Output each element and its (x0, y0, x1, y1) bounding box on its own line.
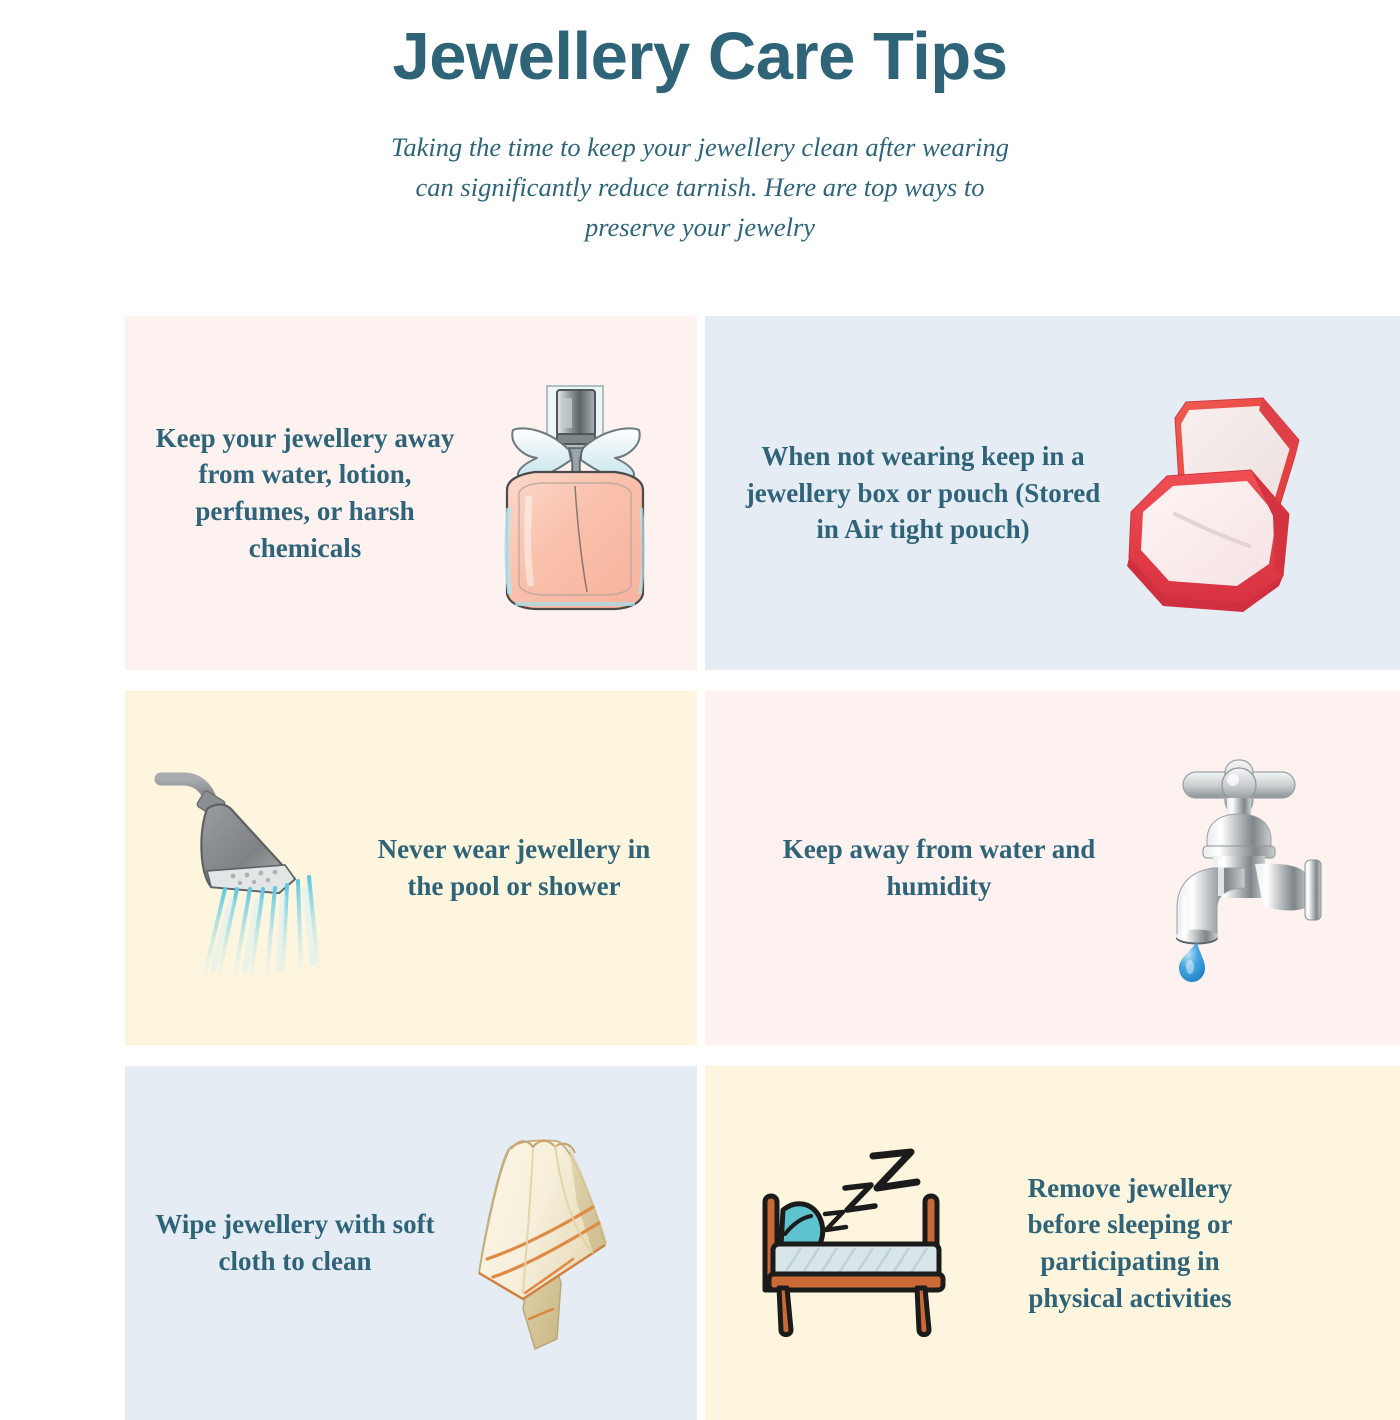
tip-card-avoid-humidity: Keep away from water and humidity (705, 691, 1400, 1045)
perfume-bottle-icon (485, 368, 665, 618)
cloth-icon (465, 1133, 640, 1353)
tips-row-1: Keep your jewellery away from water, lot… (125, 316, 1400, 670)
header: Jewellery Care Tips Taking the time to k… (0, 0, 1400, 248)
infographic-page: Jewellery Care Tips Taking the time to k… (0, 0, 1400, 1400)
tip-card-text: Never wear jewellery in the pool or show… (354, 831, 674, 904)
faucet-icon (1159, 756, 1349, 981)
tip-card-no-pool-or-shower: Never wear jewellery in the pool or show… (125, 691, 697, 1045)
tips-row-2: Never wear jewellery in the pool or show… (125, 691, 1400, 1045)
ring-box-icon (1123, 386, 1323, 601)
tip-card-remove-before-sleep: Remove jewellery before sleeping or part… (705, 1066, 1400, 1420)
tip-card-text: Keep away from water and humidity (739, 831, 1139, 904)
tip-card-wipe-with-cloth: Wipe jewellery with soft cloth to clean (125, 1066, 697, 1420)
tip-card-store-in-box: When not wearing keep in a jewellery box… (705, 316, 1400, 670)
tip-card-avoid-chemicals: Keep your jewellery away from water, lot… (125, 316, 697, 670)
tips-row-3: Wipe jewellery with soft cloth to clean (125, 1066, 1400, 1420)
tip-card-text: Wipe jewellery with soft cloth to clean (125, 1206, 465, 1279)
shower-head-icon (155, 761, 350, 976)
tip-card-text: Keep your jewellery away from water, lot… (125, 420, 485, 567)
tip-card-text: Remove jewellery before sleeping or part… (980, 1170, 1280, 1317)
tips-grid: Keep your jewellery away from water, lot… (125, 316, 1400, 1420)
page-subtitle: Taking the time to keep your jewellery c… (380, 128, 1020, 247)
page-title: Jewellery Care Tips (0, 22, 1400, 92)
tip-card-text: When not wearing keep in a jewellery box… (723, 438, 1123, 548)
bed-sleep-icon (753, 1146, 968, 1341)
